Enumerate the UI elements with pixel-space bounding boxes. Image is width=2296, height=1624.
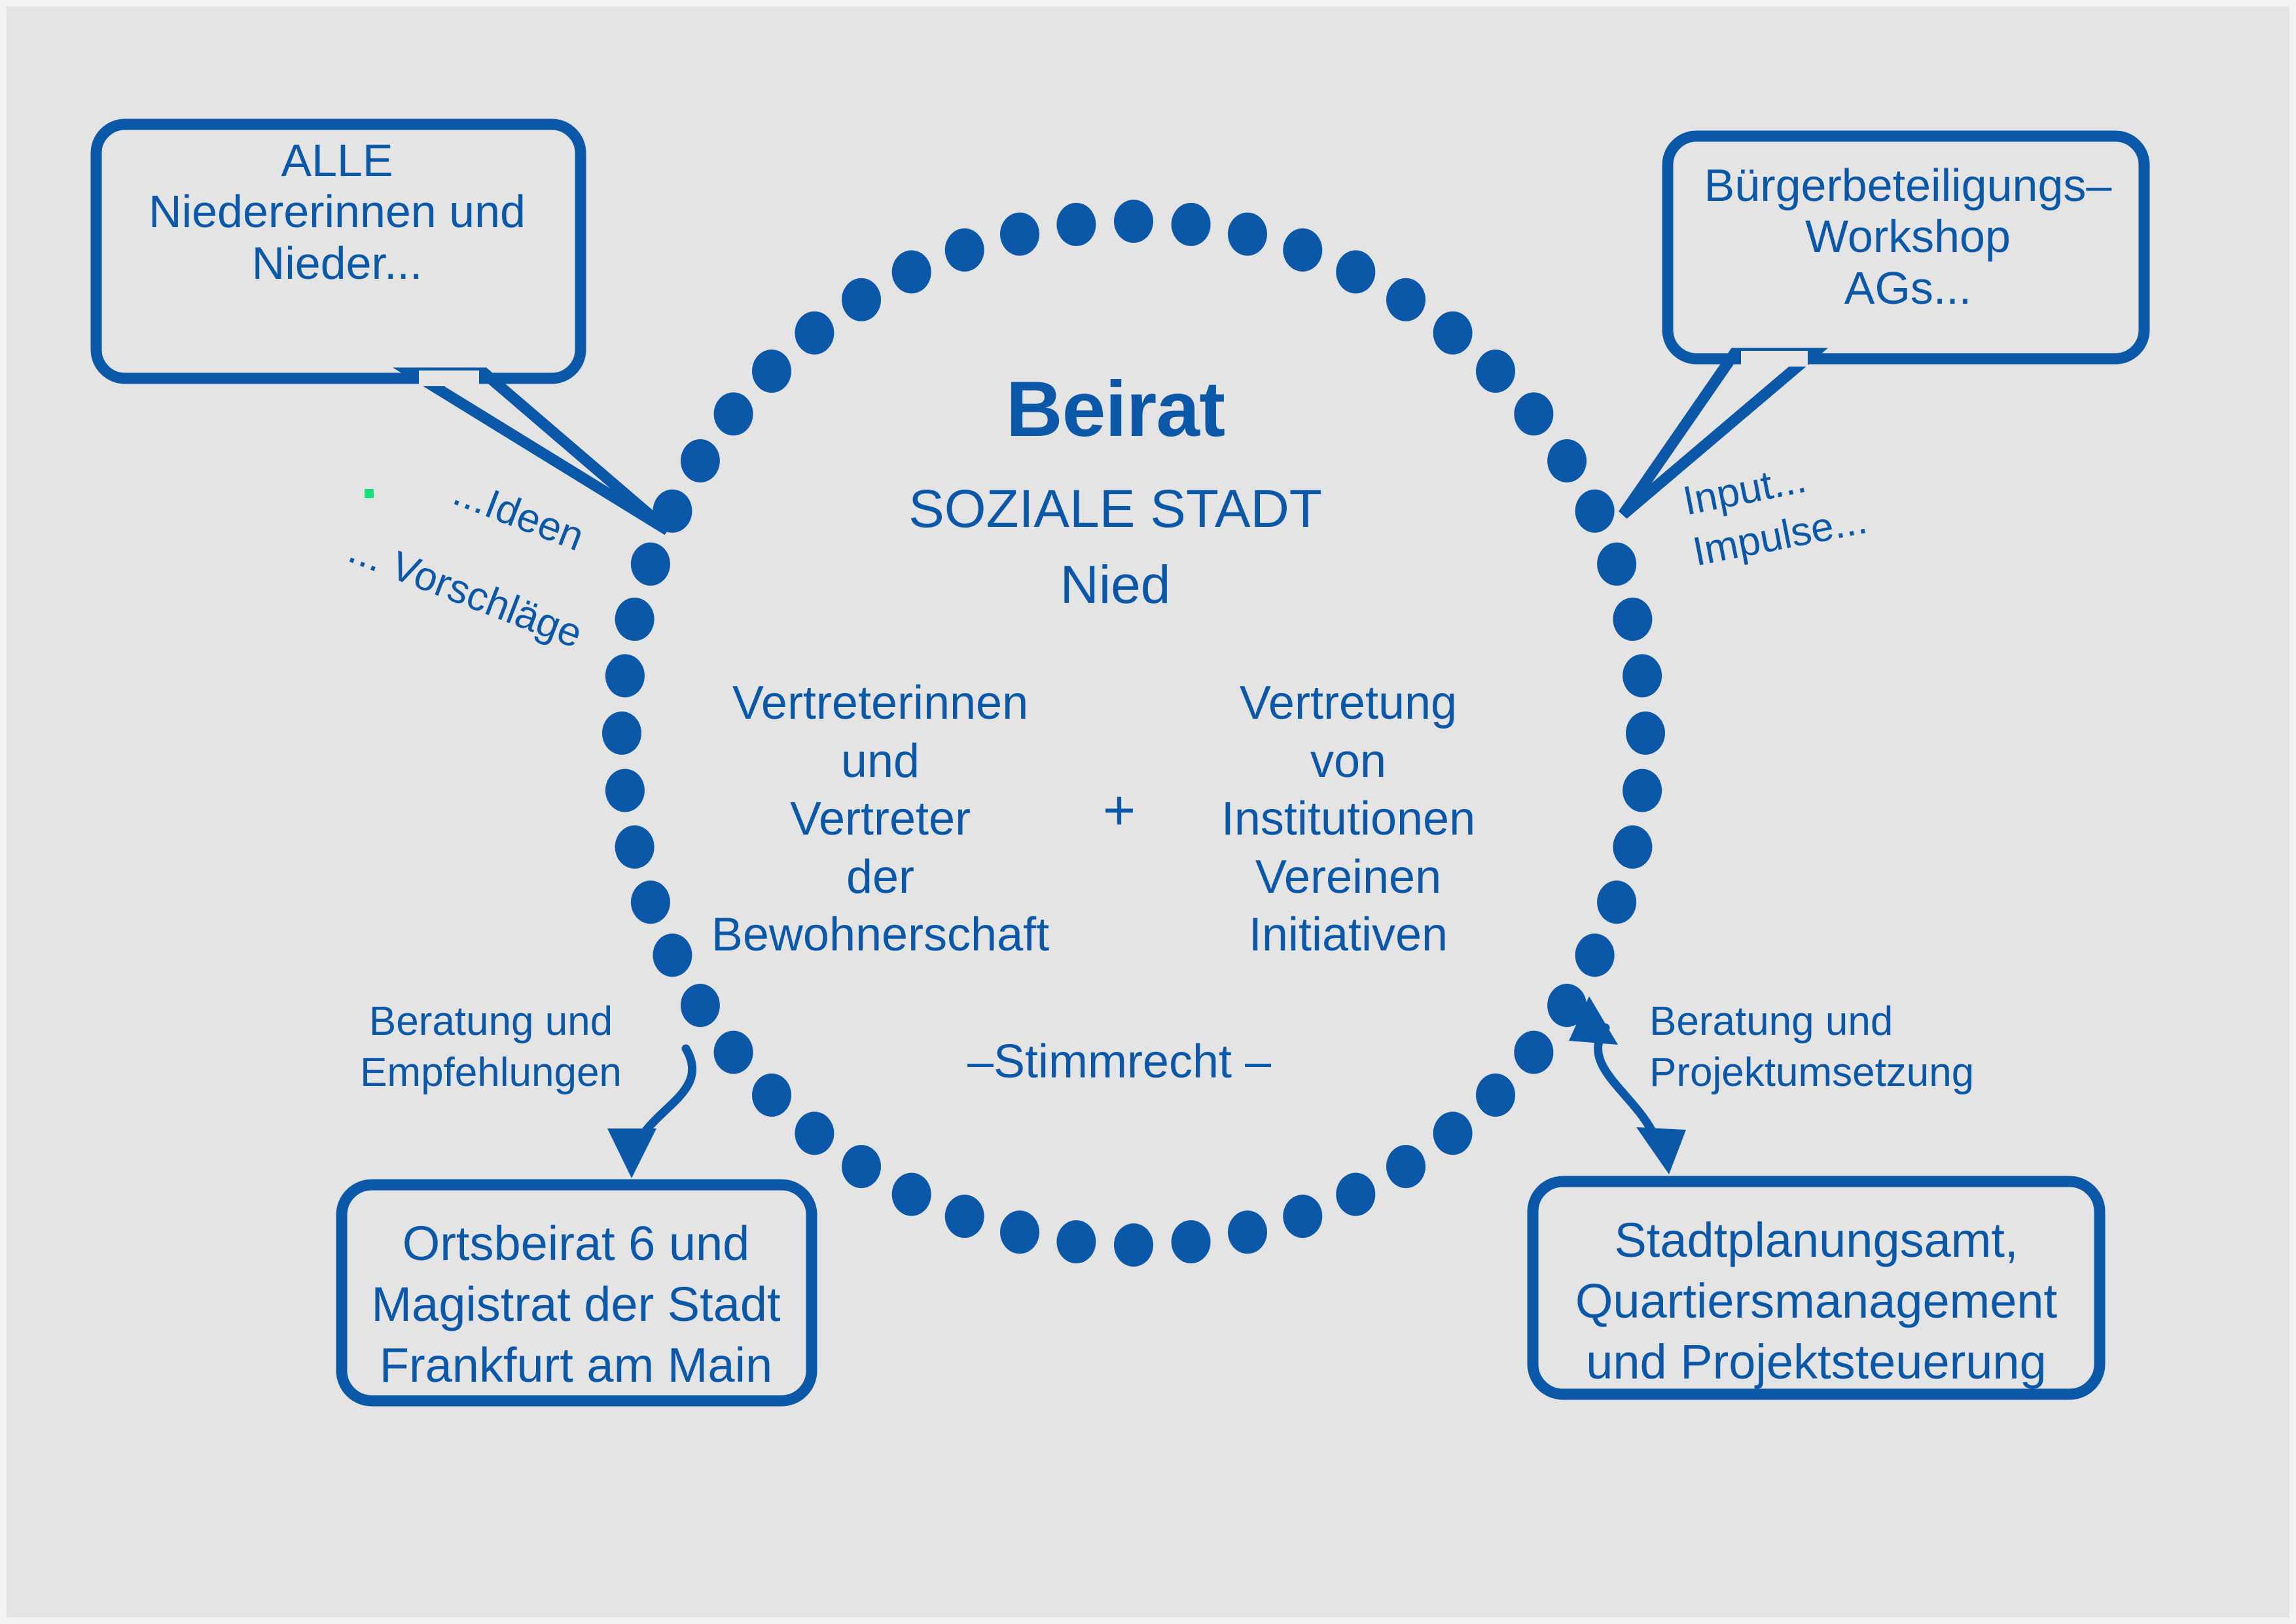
ring-dot <box>1575 933 1615 977</box>
ring-dot <box>945 228 984 272</box>
ring-dot <box>945 1195 984 1238</box>
ring-dot <box>1514 1031 1553 1074</box>
box-left-label: Ortsbeirat 6 und Magistrat der Stadt Fra… <box>347 1213 805 1396</box>
box-right-label: Stadtplanungsamt, Quartiersmanagement un… <box>1538 1210 2094 1393</box>
ring-dot <box>842 1145 881 1188</box>
page-title: Beirat <box>821 365 1410 453</box>
ring-dot <box>1336 1173 1375 1216</box>
ring-dot <box>1228 213 1267 256</box>
ring-dot <box>681 984 720 1027</box>
center-subtitle-line2: Nied <box>821 555 1410 615</box>
ring-dot <box>615 825 655 869</box>
ring-dot <box>1433 1111 1473 1155</box>
ring-dot <box>842 278 881 321</box>
center-subtitle-line1: SOZIALE STADT <box>821 479 1410 539</box>
ring-dot <box>714 1031 753 1074</box>
diagram-canvas: ALLE Niedererinnen und Nieder... Bürgerb… <box>0 0 2296 1624</box>
ring-dot <box>653 490 692 533</box>
ring-dot <box>752 1074 791 1117</box>
ring-dot <box>1386 1145 1426 1188</box>
ring-dot <box>1000 213 1039 256</box>
ring-dot <box>892 1173 931 1216</box>
ring-dot <box>605 769 645 812</box>
ring-dot <box>653 933 692 977</box>
ring-dot <box>1172 203 1211 246</box>
ring-dot <box>631 543 670 586</box>
ring-dot <box>605 654 645 697</box>
ring-dot <box>1547 984 1587 1027</box>
ring-dot <box>1228 1210 1267 1254</box>
ring-dot <box>1283 1195 1322 1238</box>
ring-dot <box>1336 250 1375 293</box>
ring-dot <box>1626 712 1665 755</box>
ring-dot <box>714 392 753 435</box>
ring-dot <box>1623 769 1662 812</box>
center-column-right: Vertretung von Institutionen Vereinen In… <box>1178 674 1518 964</box>
stimmrecht-note: –Stimmrecht – <box>923 1036 1316 1089</box>
bubble-right-label: Bürgerbeteiligungs– Workshop AGs... <box>1682 160 2134 314</box>
ring-dot <box>631 880 670 924</box>
flow-label-beratung-projektumsetzung: Beratung und Projektumsetzung <box>1649 996 1990 1098</box>
bubble-left-label: ALLE Niedererinnen und Nieder... <box>105 135 569 289</box>
ring-dot <box>681 439 720 482</box>
ring-dot <box>1114 200 1153 243</box>
ring-dot <box>1476 350 1515 393</box>
ring-dot <box>1613 598 1652 641</box>
ring-dot <box>1476 1074 1515 1117</box>
ring-dot <box>1386 278 1426 321</box>
plus-icon: + <box>1080 779 1158 842</box>
flow-label-beratung-empfehlungen: Beratung und Empfehlungen <box>347 996 635 1098</box>
ring-dot <box>1597 543 1636 586</box>
ring-dot <box>1433 312 1473 355</box>
ring-dot <box>1597 880 1636 924</box>
ring-dot <box>795 1111 834 1155</box>
ring-dot <box>1114 1223 1153 1267</box>
ring-dot <box>1000 1210 1039 1254</box>
flow-label-ideen: ...Ideen <box>446 466 592 563</box>
ring-dot <box>1613 825 1652 869</box>
ring-dot <box>602 712 641 755</box>
ring-dot <box>1056 203 1096 246</box>
ring-dot <box>752 350 791 393</box>
green-marker-dot <box>365 489 374 498</box>
ring-dot <box>1056 1220 1096 1263</box>
ring-dot <box>615 598 655 641</box>
ring-dot <box>1283 228 1322 272</box>
center-column-left: Vertreterinnen und Vertreter der Bewohne… <box>704 674 1057 964</box>
ring-dot <box>892 250 931 293</box>
ring-dot <box>1623 654 1662 697</box>
ring-dot <box>1172 1220 1211 1263</box>
ring-dot <box>1514 392 1553 435</box>
flow-label-input-impulse: Input... Impulse... <box>1679 443 1871 579</box>
ring-dot <box>795 312 834 355</box>
ring-dot <box>1547 439 1587 482</box>
ring-dot <box>1575 490 1615 533</box>
